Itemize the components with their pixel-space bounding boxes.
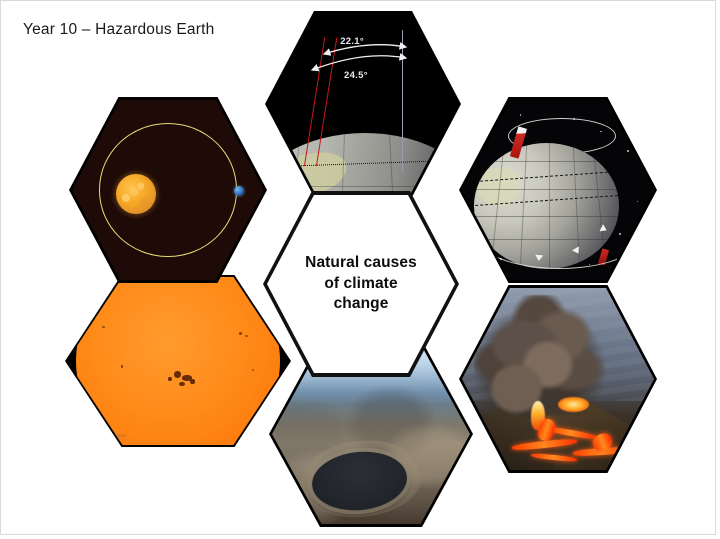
sunspot-small <box>102 326 104 328</box>
sunspot-group <box>168 377 172 381</box>
sunspot-small <box>121 365 124 367</box>
image-credit: NASA / SOHO <box>96 433 126 438</box>
volcanic-eruption-hexagon[interactable] <box>459 285 657 473</box>
crater-vent-glow <box>558 397 589 412</box>
sunspot-small <box>252 369 254 371</box>
sunspot-group <box>174 371 181 378</box>
tilt-label-min: 22.1° <box>340 36 364 47</box>
precession-wobble-hexagon[interactable] <box>459 97 657 283</box>
axial-tilt-diagram: 22.1° 24.5° <box>268 14 458 194</box>
center-line-2: of climate <box>324 274 397 295</box>
axial-tilt-hexagon[interactable]: 22.1° 24.5° <box>265 11 461 197</box>
precession-diagram <box>462 100 654 280</box>
landmass-shape-2 <box>268 183 293 194</box>
direction-arrow-3 <box>535 254 543 261</box>
earth-body <box>234 186 244 196</box>
center-panel: Natural causes of climate change <box>267 195 455 373</box>
sunspot-small <box>239 332 242 334</box>
sun-photo: NASA / SOHO <box>67 277 289 445</box>
sunspot-group <box>179 382 185 387</box>
sunspot-small <box>245 335 247 337</box>
tilt-label-max: 24.5° <box>344 70 368 81</box>
natural-causes-hexagon[interactable]: Natural causes of climate change <box>263 191 459 377</box>
solar-disc <box>76 277 280 445</box>
center-line-3: change <box>334 294 389 315</box>
center-line-1: Natural causes <box>305 253 417 274</box>
sunspot-group <box>190 379 194 383</box>
volcano-photo <box>462 288 654 470</box>
eccentricity-orbit-hexagon[interactable] <box>69 97 267 283</box>
page-title: Year 10 – Hazardous Earth <box>23 21 214 39</box>
center-text-block: Natural causes of climate change <box>267 195 455 373</box>
orbit-image <box>72 100 264 280</box>
slide-canvas: Year 10 – Hazardous Earth <box>0 0 716 535</box>
ash-plume <box>474 295 616 415</box>
solar-output-sunspots-hexagon[interactable]: NASA / SOHO <box>65 275 291 447</box>
